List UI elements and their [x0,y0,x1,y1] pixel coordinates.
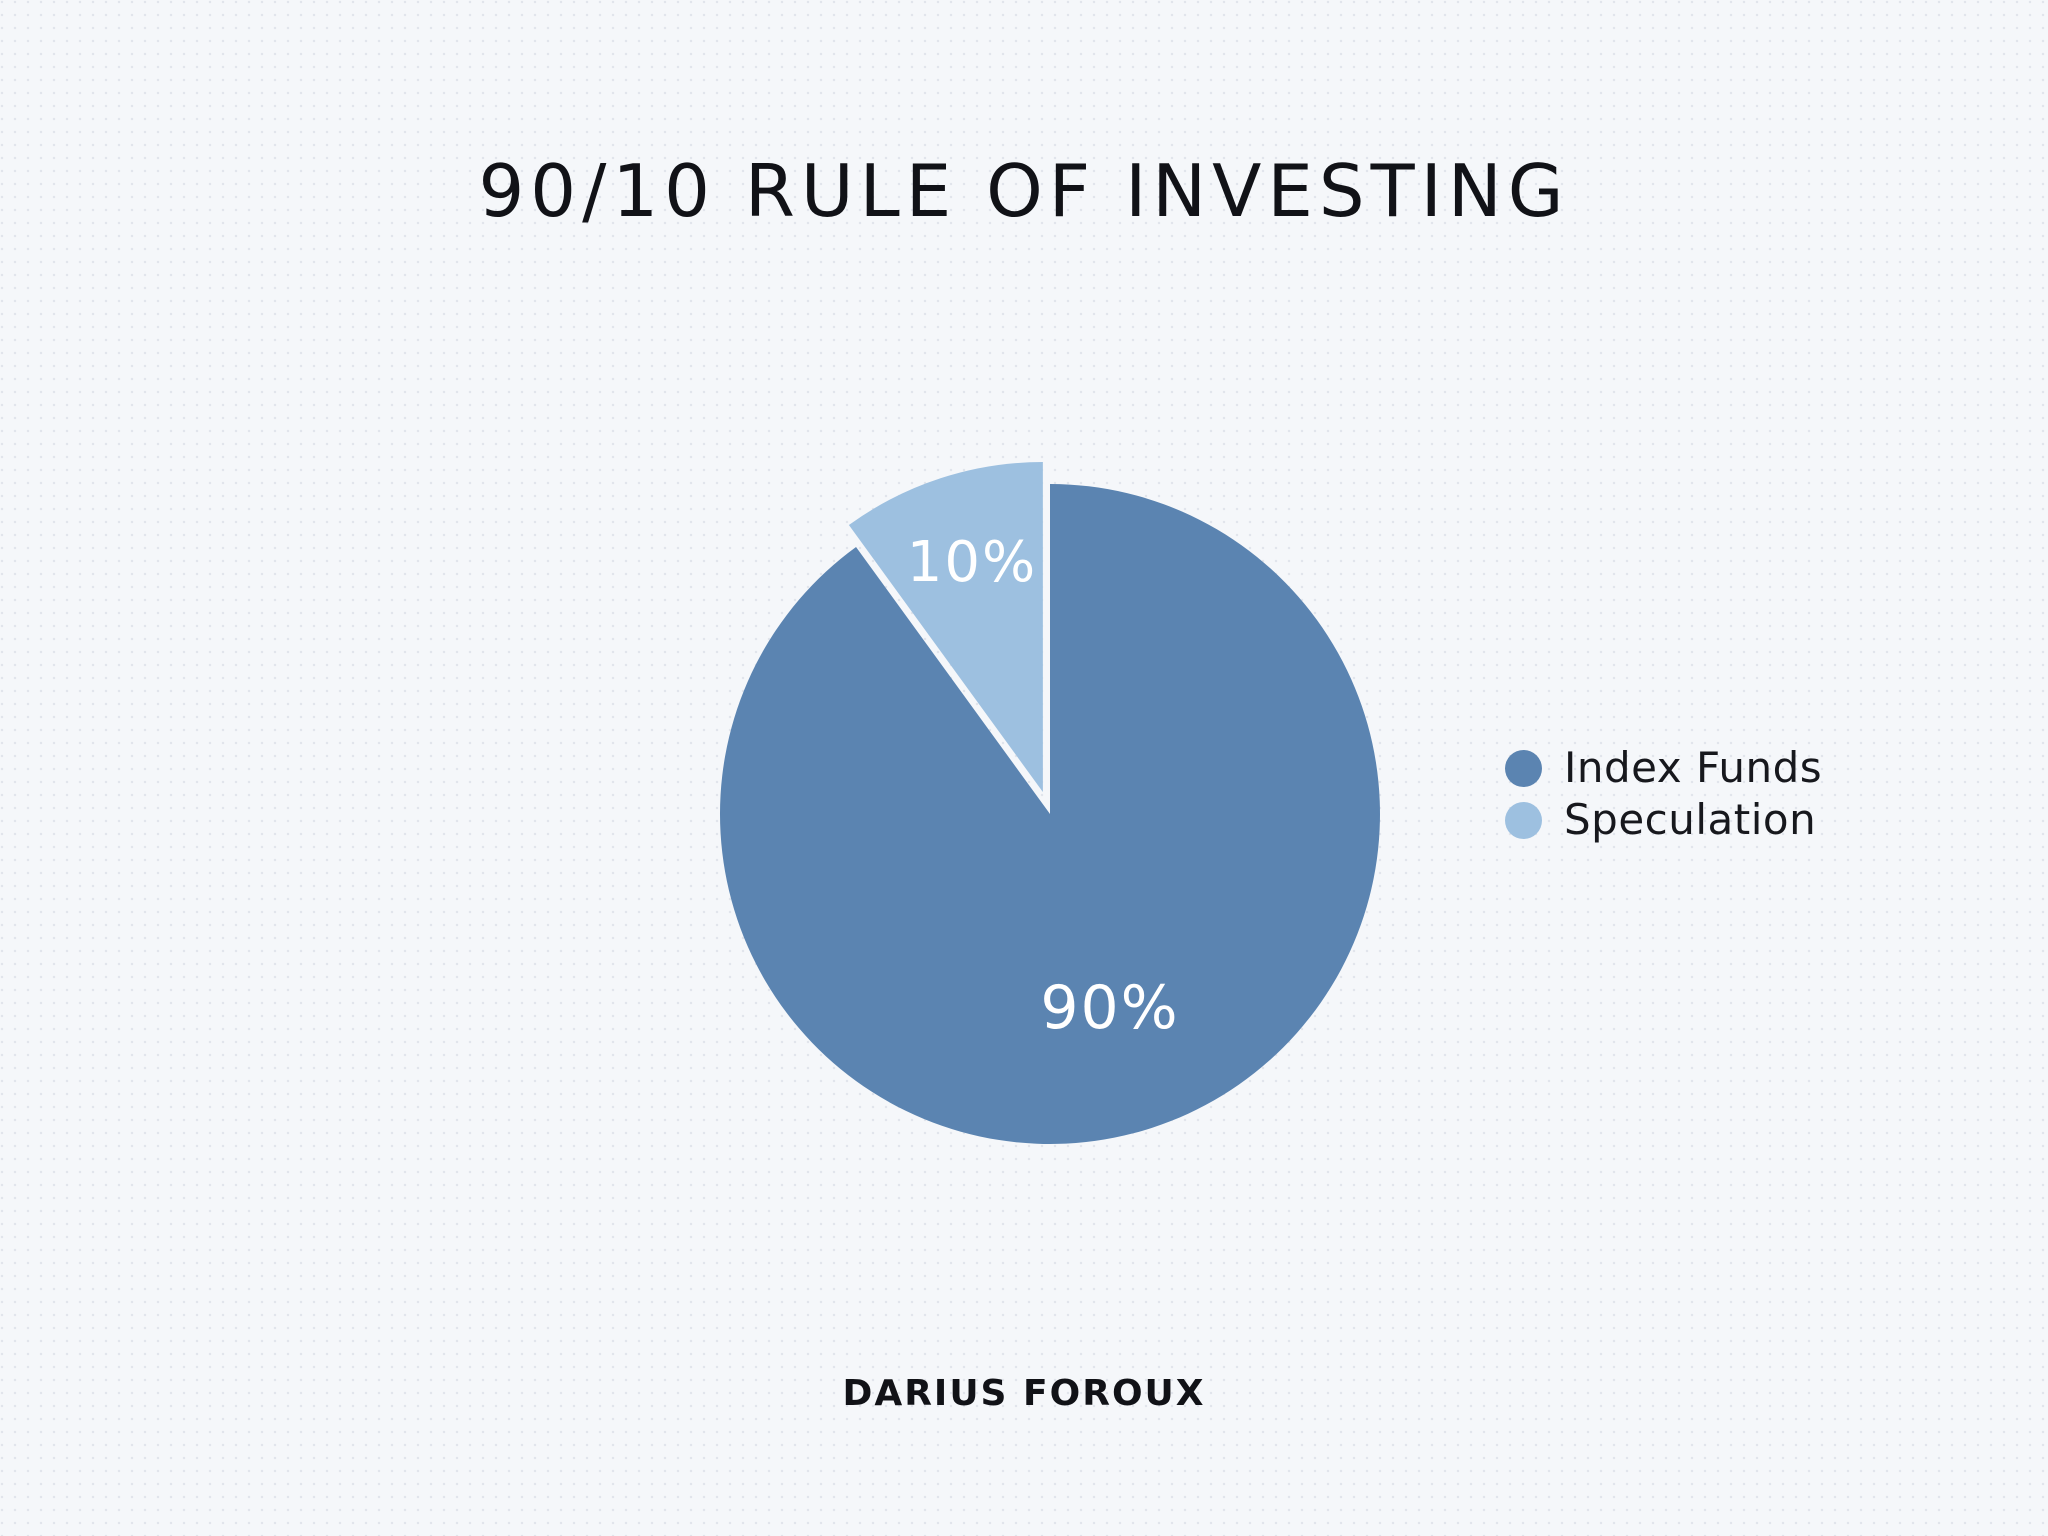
legend: Index Funds Speculation [1505,742,1925,846]
legend-item-speculation[interactable]: Speculation [1505,794,1925,846]
legend-label-speculation: Speculation [1564,798,1816,842]
chart-poster: 90/10 RULE OF INVESTING 10% 90% Index Fu… [0,0,2048,1536]
pie-chart: 10% 90% [690,448,1410,1168]
pie-chart-svg [690,448,1410,1168]
legend-swatch-index-funds-icon [1505,750,1542,787]
page-title: 90/10 RULE OF INVESTING [0,148,2048,234]
pie-slice-index-funds[interactable] [720,484,1380,1144]
legend-item-index-funds[interactable]: Index Funds [1505,742,1925,794]
legend-swatch-speculation-icon [1505,802,1542,839]
legend-label-index-funds: Index Funds [1564,746,1822,790]
author-signature: DARIUS FOROUX [0,1372,2048,1416]
